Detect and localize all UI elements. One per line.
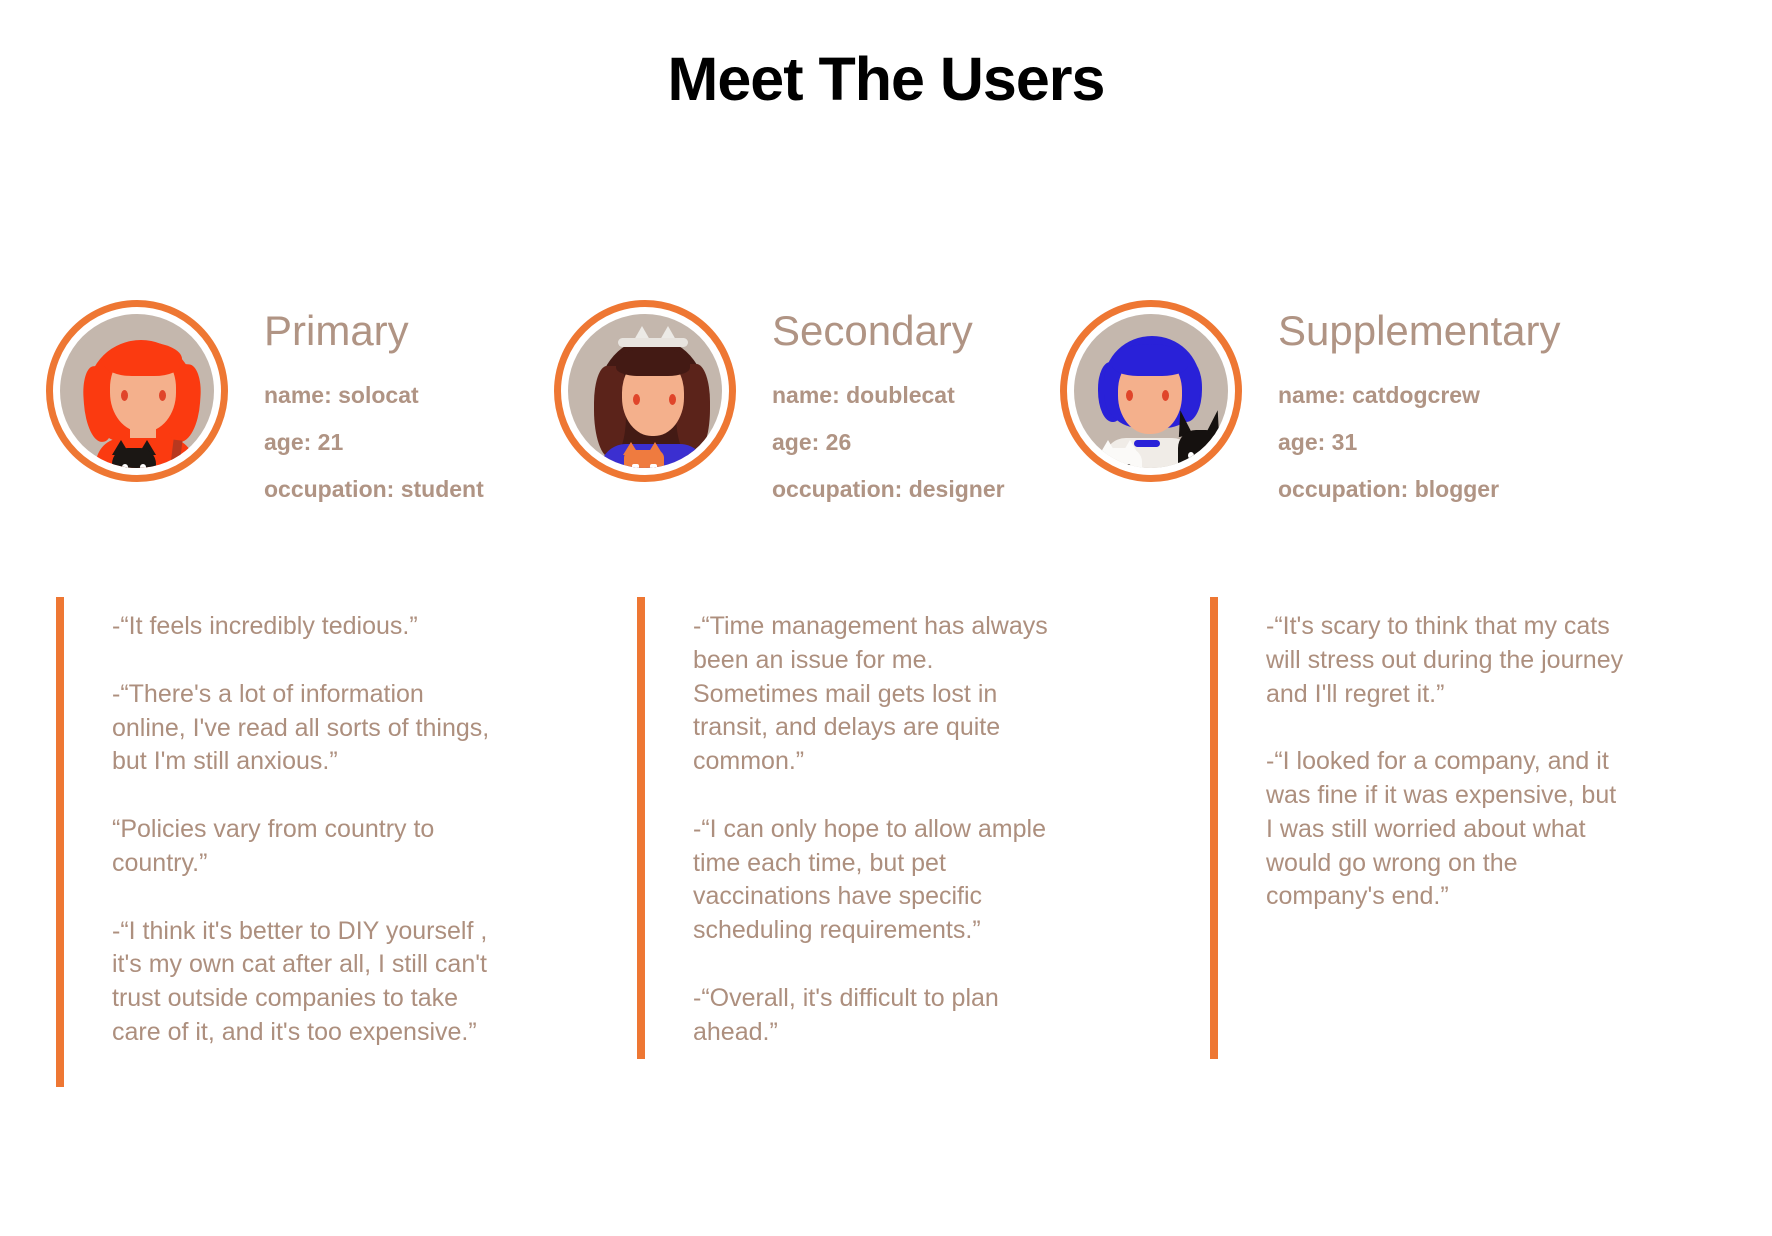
cat-eye-right-icon — [140, 464, 146, 468]
quote-accent-bar — [56, 597, 64, 1087]
orange-cat-icon — [624, 450, 664, 468]
fringe-icon — [616, 348, 690, 376]
eye-right-icon — [1162, 390, 1169, 401]
quote-item: -“There's a lot of information online, I… — [112, 678, 492, 779]
quote-item: -“Overall, it's difficult to plan ahead.… — [693, 982, 1063, 1050]
quote-item: -“It feels incredibly tedious.” — [112, 610, 492, 644]
quote-item: “Policies vary from country to country.” — [112, 813, 492, 881]
white-cat-icon — [1100, 448, 1142, 468]
eye-left-icon — [633, 394, 640, 405]
avatar-image-primary — [60, 314, 214, 468]
quote-column-supplementary: -“It's scary to think that my cats will … — [1210, 597, 1630, 1097]
eye-right-icon — [159, 390, 166, 401]
black-cat-icon — [112, 448, 156, 468]
quote-list-primary: -“It feels incredibly tedious.” -“There'… — [112, 610, 492, 1050]
eye-left-icon — [1126, 390, 1133, 401]
persona-header-row: Primary name: solocat age: 21 occupation… — [0, 300, 1772, 560]
quote-column-primary: -“It feels incredibly tedious.” -“There'… — [56, 597, 526, 1097]
white-cat-eye-right-icon — [1126, 464, 1131, 468]
persona-occupation: occupation: blogger — [1278, 478, 1640, 501]
cat-eye-left-icon — [122, 464, 128, 468]
avatar-image-secondary — [568, 314, 722, 468]
quote-list-secondary: -“Time management has always been an iss… — [693, 610, 1063, 1049]
meet-the-users-page: Meet The Users — [0, 0, 1772, 1236]
persona-name: name: catdogcrew — [1278, 384, 1640, 407]
fringe-icon — [1112, 344, 1188, 376]
persona-card-primary: Primary name: solocat age: 21 occupation… — [46, 300, 626, 550]
persona-text-supplementary: Supplementary name: catdogcrew age: 31 o… — [1278, 310, 1640, 525]
quote-accent-bar — [1210, 597, 1218, 1059]
page-title: Meet The Users — [0, 44, 1772, 114]
persona-card-secondary: Secondary name: doublecat age: 26 occupa… — [554, 300, 1134, 550]
quote-list-supplementary: -“It's scary to think that my cats will … — [1266, 610, 1626, 914]
persona-age: age: 31 — [1278, 431, 1640, 454]
collar-icon — [1134, 440, 1160, 447]
fringe-icon — [104, 342, 182, 376]
avatar-secondary — [554, 300, 736, 482]
quote-item: -“I think it's better to DIY yourself , … — [112, 915, 492, 1050]
quote-item: -“I can only hope to allow ample time ea… — [693, 813, 1063, 948]
dog-eye-left-icon — [1188, 452, 1194, 459]
persona-card-supplementary: Supplementary name: catdogcrew age: 31 o… — [1060, 300, 1640, 550]
quote-item: -“I looked for a company, and it was fin… — [1266, 745, 1626, 914]
cat-eye-right-icon — [650, 464, 657, 468]
avatar-image-supplementary — [1074, 314, 1228, 468]
quote-item: -“It's scary to think that my cats will … — [1266, 610, 1626, 711]
quote-item: -“Time management has always been an iss… — [693, 610, 1063, 779]
headband-icon — [618, 338, 688, 347]
black-dog-icon — [1178, 430, 1224, 468]
cat-eye-left-icon — [632, 464, 639, 468]
quotes-row: -“It feels incredibly tedious.” -“There'… — [0, 597, 1772, 1157]
avatar-supplementary — [1060, 300, 1242, 482]
quote-accent-bar — [637, 597, 645, 1059]
quote-column-secondary: -“Time management has always been an iss… — [637, 597, 1057, 1097]
dog-eye-right-icon — [1206, 452, 1212, 459]
eye-right-icon — [669, 394, 676, 405]
avatar-primary — [46, 300, 228, 482]
persona-role: Supplementary — [1278, 310, 1640, 352]
eye-left-icon — [121, 390, 128, 401]
white-cat-eye-left-icon — [1108, 464, 1113, 468]
